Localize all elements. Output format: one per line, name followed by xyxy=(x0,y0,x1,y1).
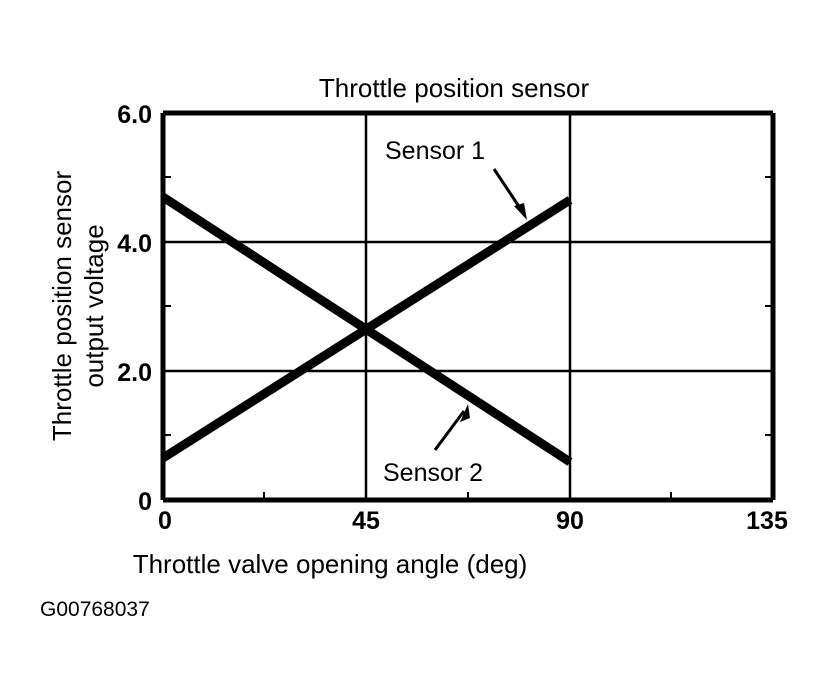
figure-container: Throttle position sensor xyxy=(0,0,816,696)
y-tick-label-0: 0 xyxy=(138,488,152,516)
figure-caption-code: G00768037 xyxy=(40,598,150,621)
y-tick-label-4: 4.0 xyxy=(117,230,152,258)
y-axis-title-line1: Throttle position sensor xyxy=(47,171,77,442)
x-tick-label-45: 45 xyxy=(352,507,380,535)
y-tick-label-6: 6.0 xyxy=(117,101,152,129)
throttle-position-sensor-chart: Throttle position sensor xyxy=(0,0,816,696)
x-tick-label-90: 90 xyxy=(556,507,584,535)
x-tick-label-0: 0 xyxy=(158,507,172,535)
y-axis-title-line2: output voltage xyxy=(79,224,109,387)
series-label-sensor-1: Sensor 1 xyxy=(385,137,485,165)
series-label-sensor-2: Sensor 2 xyxy=(383,459,483,487)
x-tick-label-135: 135 xyxy=(746,507,788,535)
chart-title: Throttle position sensor xyxy=(319,73,590,103)
x-axis-title: Throttle valve opening angle (deg) xyxy=(133,549,528,579)
y-tick-label-2: 2.0 xyxy=(117,359,152,387)
